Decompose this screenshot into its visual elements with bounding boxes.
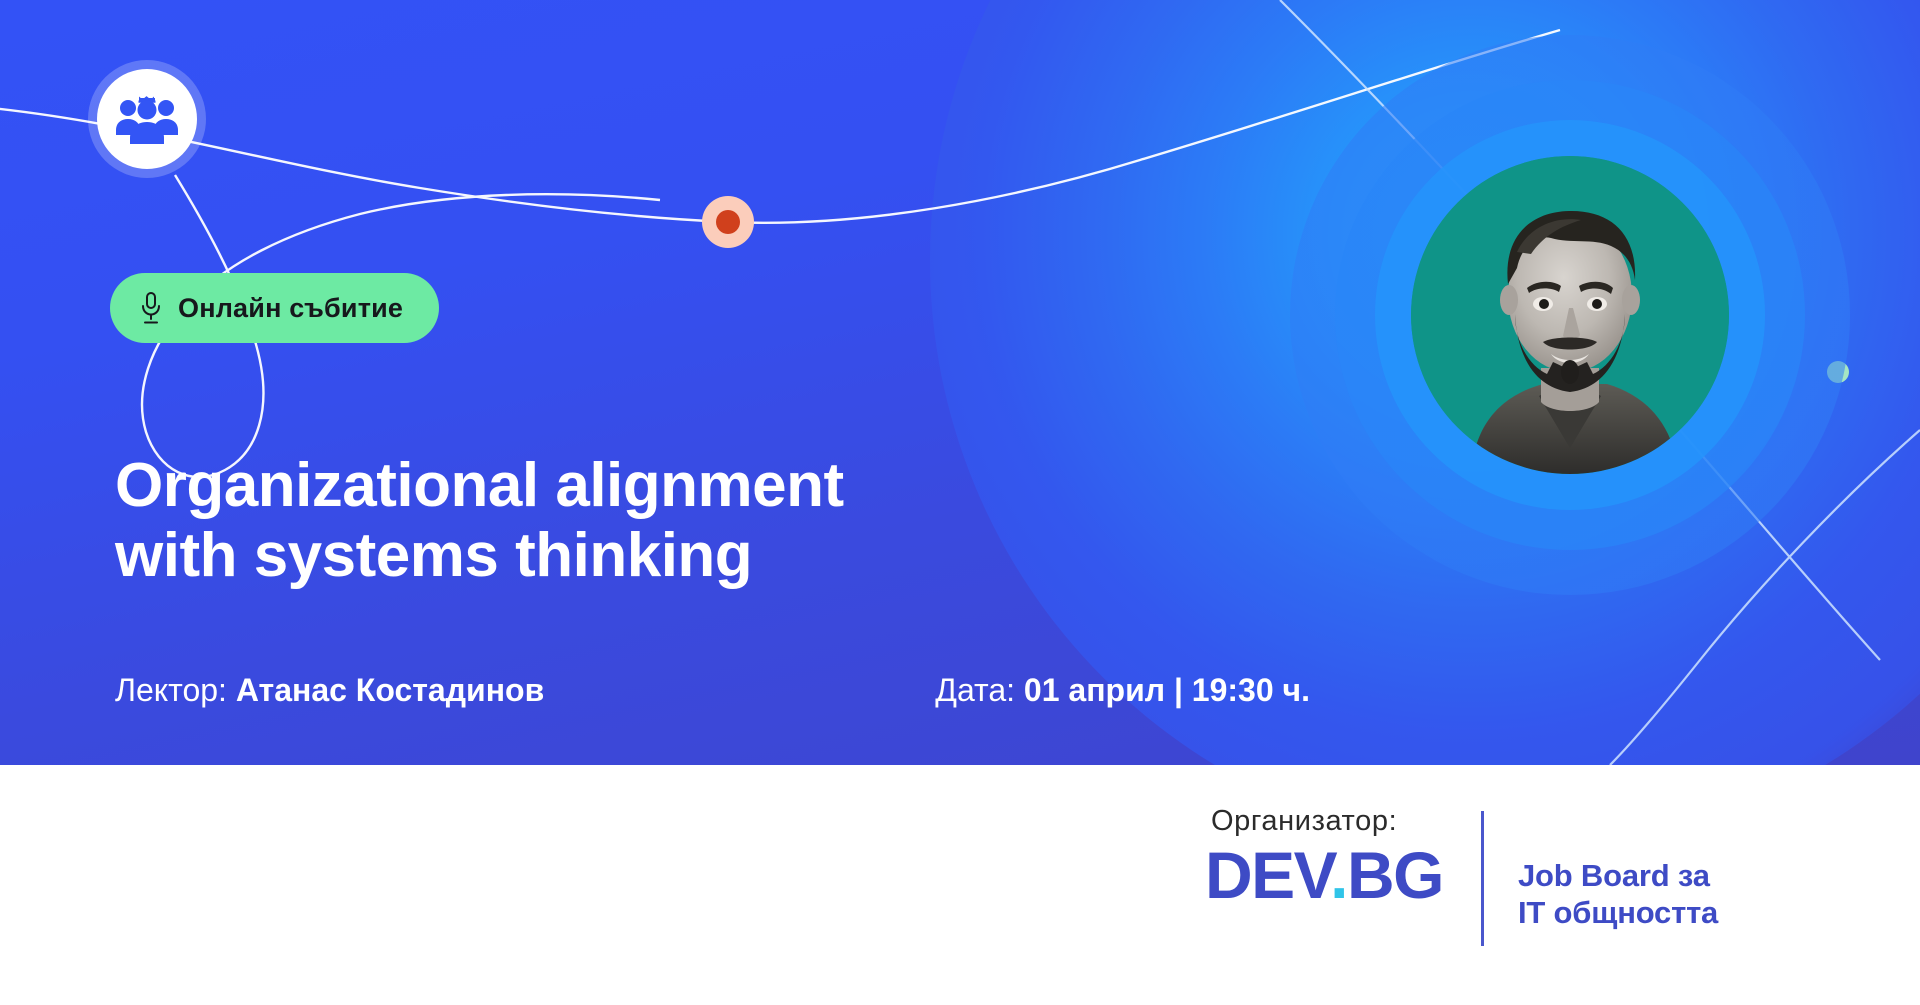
speaker-label: Лектор: <box>115 672 227 708</box>
date-value: 01 април | 19:30 ч. <box>1024 672 1310 708</box>
devbg-tagline-line-2: IT общността <box>1518 894 1718 931</box>
devbg-tagline: Job Board за IT общността <box>1518 857 1718 931</box>
devbg-logo-dot: . <box>1330 838 1347 912</box>
people-icon-badge <box>88 60 206 178</box>
online-event-label: Онлайн събитие <box>178 293 403 324</box>
event-title-line-1: Organizational alignment <box>115 451 844 520</box>
devbg-logo-name: DEV <box>1205 838 1330 912</box>
orange-node-dot <box>702 196 754 248</box>
event-title: Organizational alignment with systems th… <box>115 451 1135 591</box>
event-banner: Онлайн събитие Organizational alignment … <box>0 0 1920 1005</box>
date-info: Дата: 01 април | 19:30 ч. <box>935 672 1310 709</box>
speaker-avatar <box>1411 156 1729 474</box>
organizer-block: Организатор: DEV.BG Job Board за IT общн… <box>1205 805 1718 946</box>
people-group-icon <box>116 94 178 144</box>
footer-panel: Организатор: DEV.BG Job Board за IT общн… <box>0 765 1920 1005</box>
date-label: Дата: <box>935 672 1015 708</box>
organizer-label: Организатор: <box>1211 805 1443 838</box>
speaker-portrait-rings <box>1290 35 1850 595</box>
hero-panel: Онлайн събитие Organizational alignment … <box>0 0 1920 765</box>
event-title-line-2: with systems thinking <box>115 521 1135 591</box>
devbg-logo[interactable]: DEV.BG <box>1205 842 1443 908</box>
devbg-logo-suffix: BG <box>1347 838 1443 912</box>
speaker-info: Лектор: Атанас Костадинов <box>115 672 544 709</box>
footer-divider <box>1481 811 1484 946</box>
online-event-badge: Онлайн събитие <box>110 273 439 343</box>
speaker-name: Атанас Костадинов <box>236 672 544 708</box>
microphone-icon <box>140 291 162 325</box>
event-meta: Лектор: Атанас Костадинов Дата: 01 април… <box>115 672 1445 709</box>
devbg-tagline-line-1: Job Board за <box>1518 857 1718 894</box>
